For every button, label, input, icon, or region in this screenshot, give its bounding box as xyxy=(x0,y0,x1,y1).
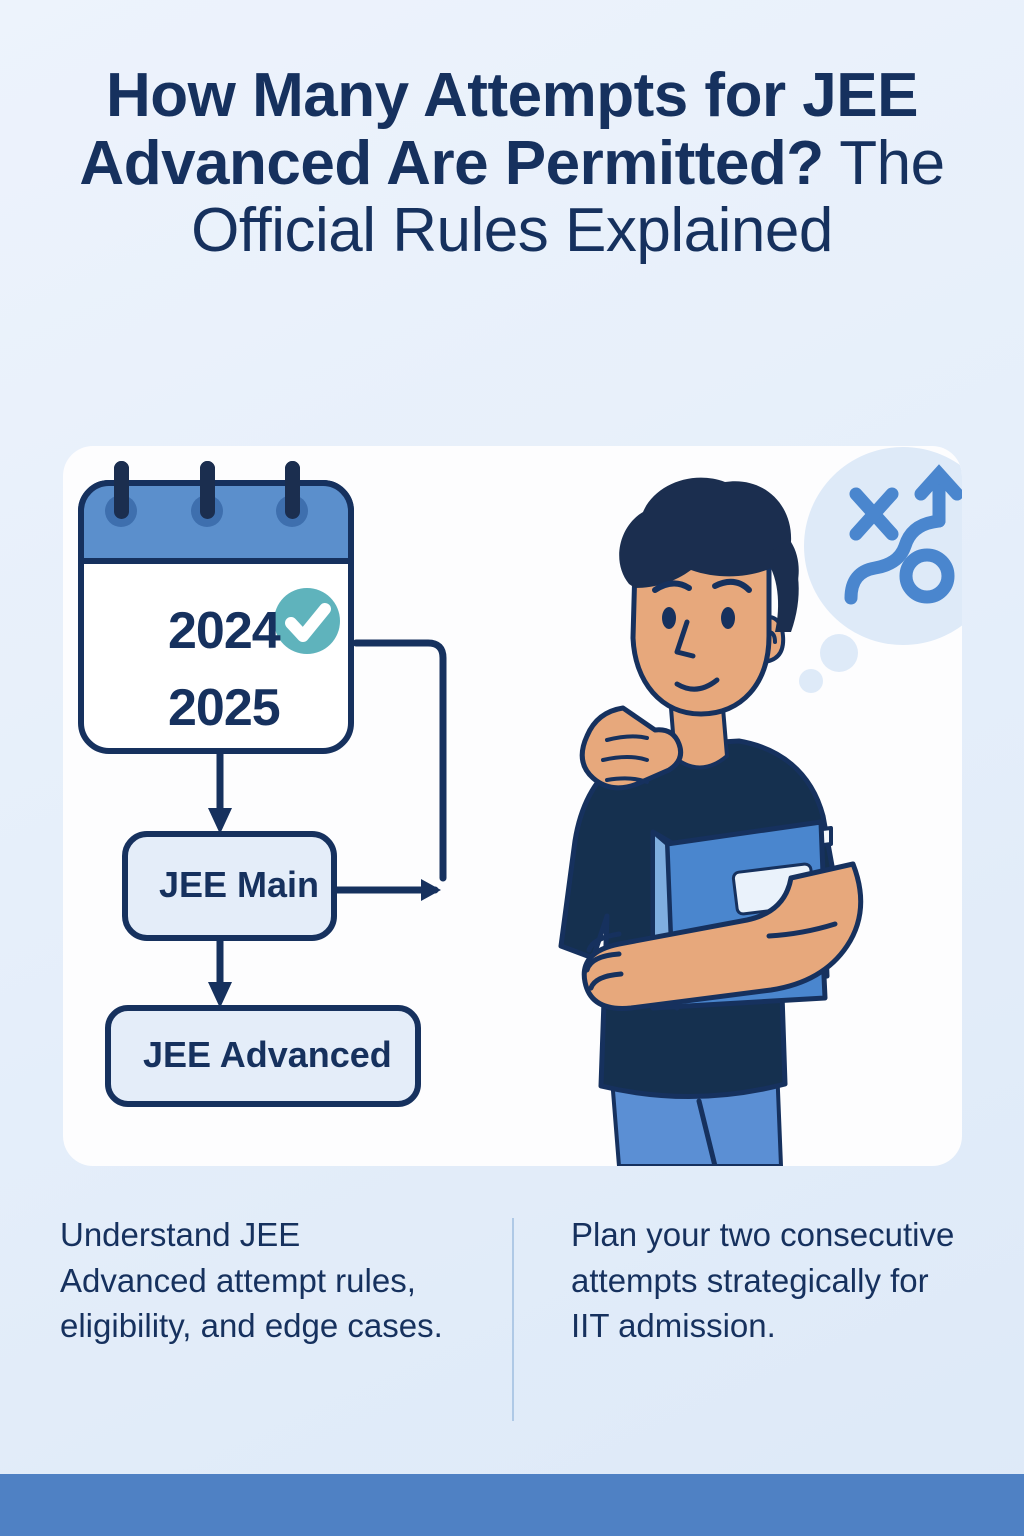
student-eye-right xyxy=(721,607,735,629)
footer-column-right: Plan your two consecutive attempts strat… xyxy=(515,1212,964,1427)
arrowhead-icon xyxy=(208,982,232,1008)
arrowhead-icon xyxy=(208,808,232,834)
bottom-accent-bar xyxy=(0,1474,1024,1536)
page-title-strong: How Many Attempts for JEE Advanced Are P… xyxy=(79,61,918,198)
student-illustration xyxy=(561,447,962,1166)
arrowhead-icon xyxy=(421,879,441,901)
thought-dot-medium xyxy=(820,634,858,672)
footer-divider xyxy=(512,1218,514,1421)
page-title: How Many Attempts for JEE Advanced Are P… xyxy=(60,62,964,265)
thought-dot-small xyxy=(799,669,823,693)
illustration-card: 2024 2025 JEE Main JEE Advanced xyxy=(63,446,962,1166)
footer-column-left: Understand JEE Advanced attempt rules, e… xyxy=(60,1212,515,1427)
flow-connector-loop xyxy=(356,643,443,878)
flow-label-jee-main: JEE Main xyxy=(159,864,319,906)
calendar-year-second: 2025 xyxy=(168,678,280,738)
calendar-year-first: 2024 xyxy=(168,601,280,661)
check-circle-icon xyxy=(274,588,340,654)
flow-label-jee-advanced: JEE Advanced xyxy=(143,1034,392,1076)
student-eye-left xyxy=(662,607,676,629)
